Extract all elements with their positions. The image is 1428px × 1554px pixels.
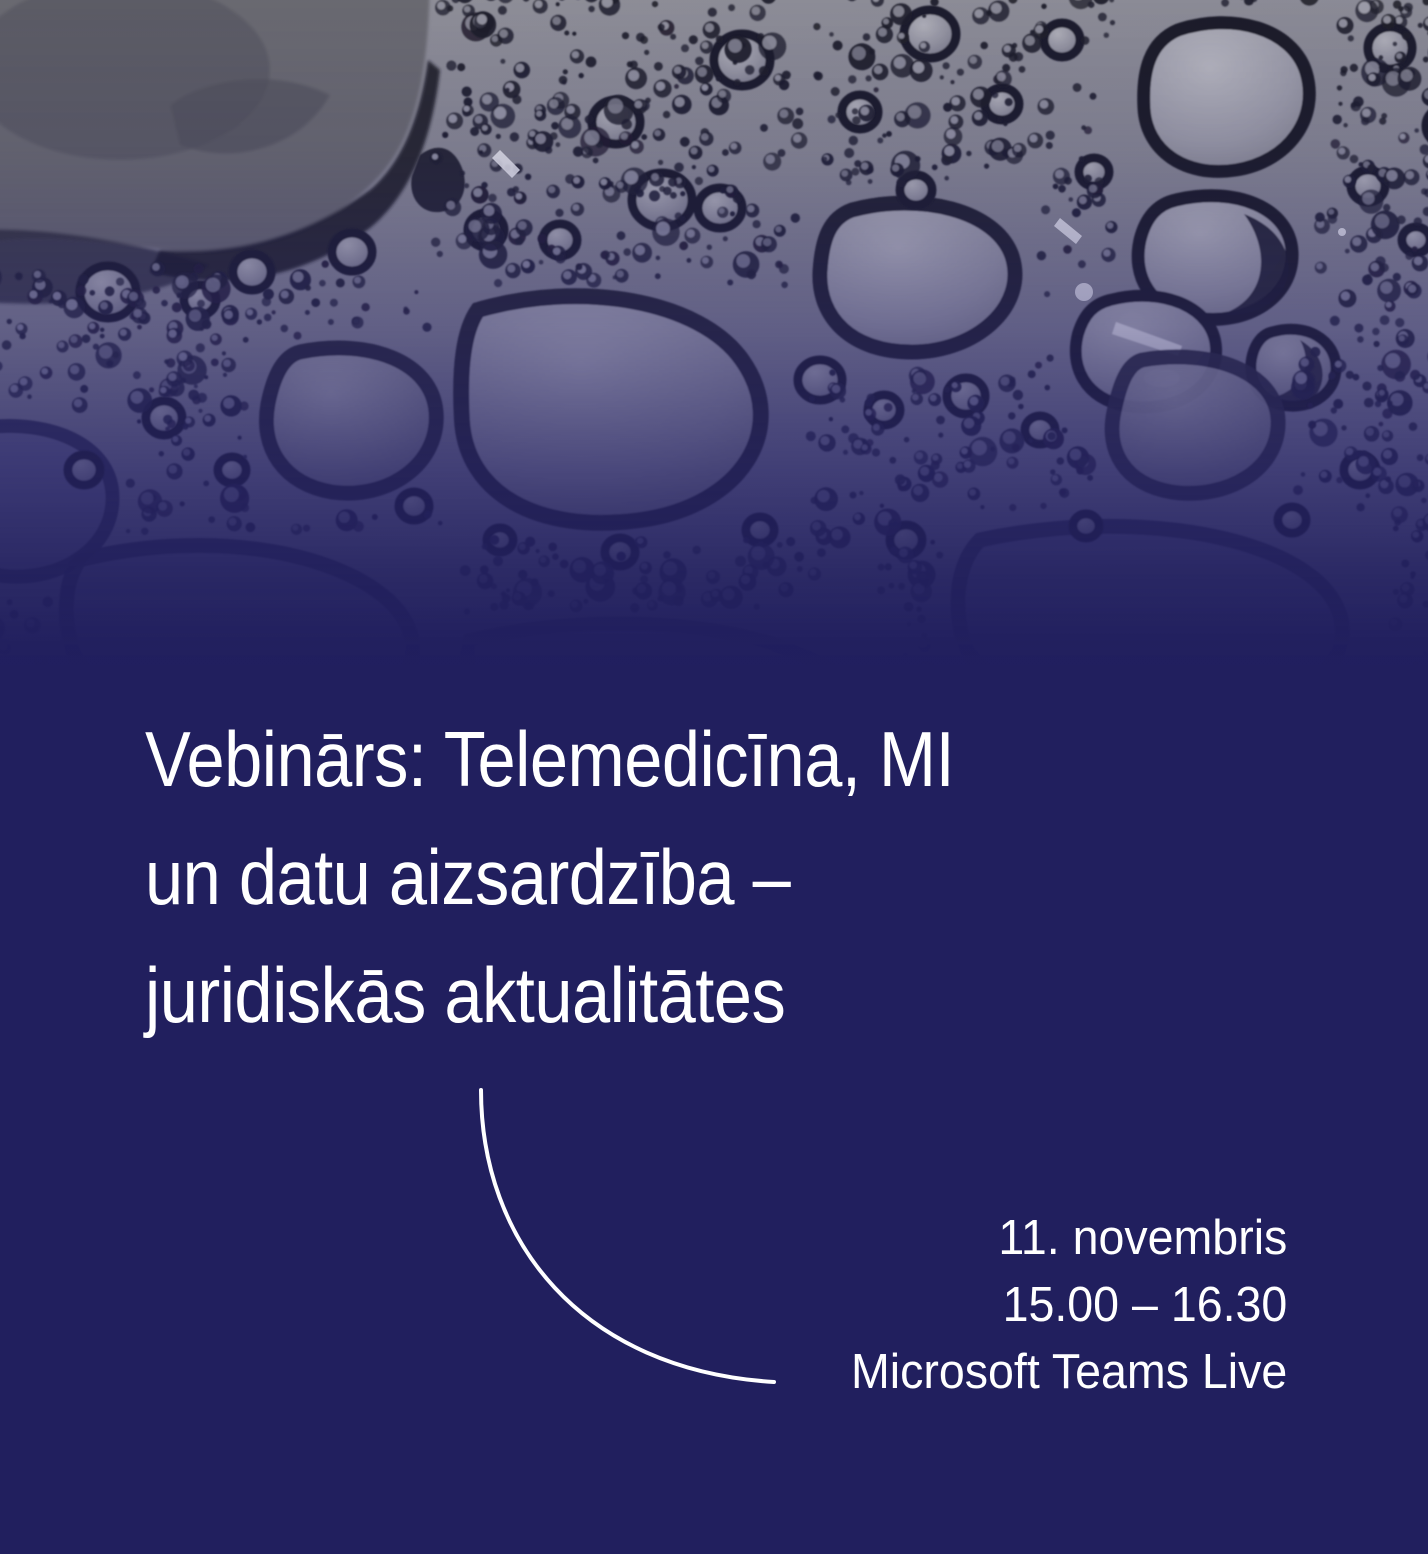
title-line-1: Vebinārs: Telemedicīna, MI bbox=[145, 700, 1157, 818]
page-title: Vebinārs: Telemedicīna, MI un datu aizsa… bbox=[145, 700, 1157, 1054]
title-line-2: un datu aizsardzība – bbox=[145, 818, 1157, 936]
webinar-poster: Vebinārs: Telemedicīna, MI un datu aizsa… bbox=[0, 0, 1428, 1554]
event-time: 15.00 – 16.30 bbox=[851, 1272, 1287, 1339]
event-platform: Microsoft Teams Live bbox=[851, 1339, 1287, 1406]
water-droplet-photo bbox=[0, 0, 1428, 720]
title-line-3: juridiskās aktualitātes bbox=[145, 936, 1157, 1054]
event-date: 11. novembris bbox=[851, 1205, 1287, 1272]
event-details: 11. novembris 15.00 – 16.30 Microsoft Te… bbox=[851, 1205, 1287, 1406]
decorative-arc-icon bbox=[460, 1070, 800, 1400]
